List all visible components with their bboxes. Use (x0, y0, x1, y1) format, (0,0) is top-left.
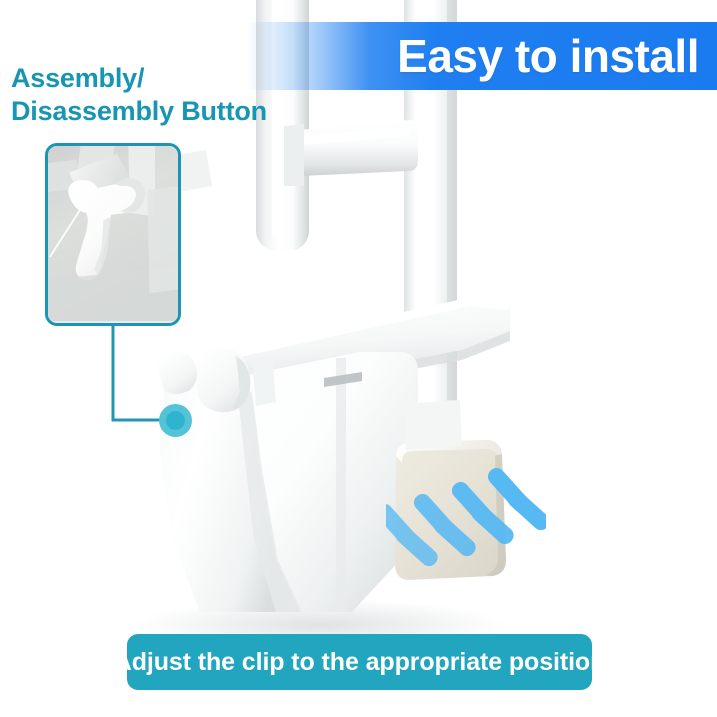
crossbar-joint-left (284, 124, 304, 186)
direction-arrows (386, 452, 546, 582)
clamp-body-seam (336, 358, 346, 612)
callout-caption-line-2: Disassembly Button (11, 95, 371, 128)
hinge-pin (252, 356, 276, 406)
product-marketing-image: Easy to install Assembly/ Disassembly Bu… (0, 0, 717, 717)
headline-text: Easy to install (397, 33, 699, 79)
assembly-button-closeup-photo (48, 146, 178, 321)
callout-caption: Assembly/ Disassembly Button (11, 62, 371, 128)
callout-marker-dot (159, 404, 192, 437)
pad-connector (404, 400, 462, 450)
callout-inset-box (45, 143, 181, 326)
footer-text: Adjust the clip to the appropriate posit… (114, 648, 606, 677)
leader-line-path (113, 327, 167, 420)
inset-right-post (147, 186, 178, 293)
callout-caption-line-1: Assembly/ (11, 62, 371, 95)
footer-banner: Adjust the clip to the appropriate posit… (127, 634, 592, 690)
